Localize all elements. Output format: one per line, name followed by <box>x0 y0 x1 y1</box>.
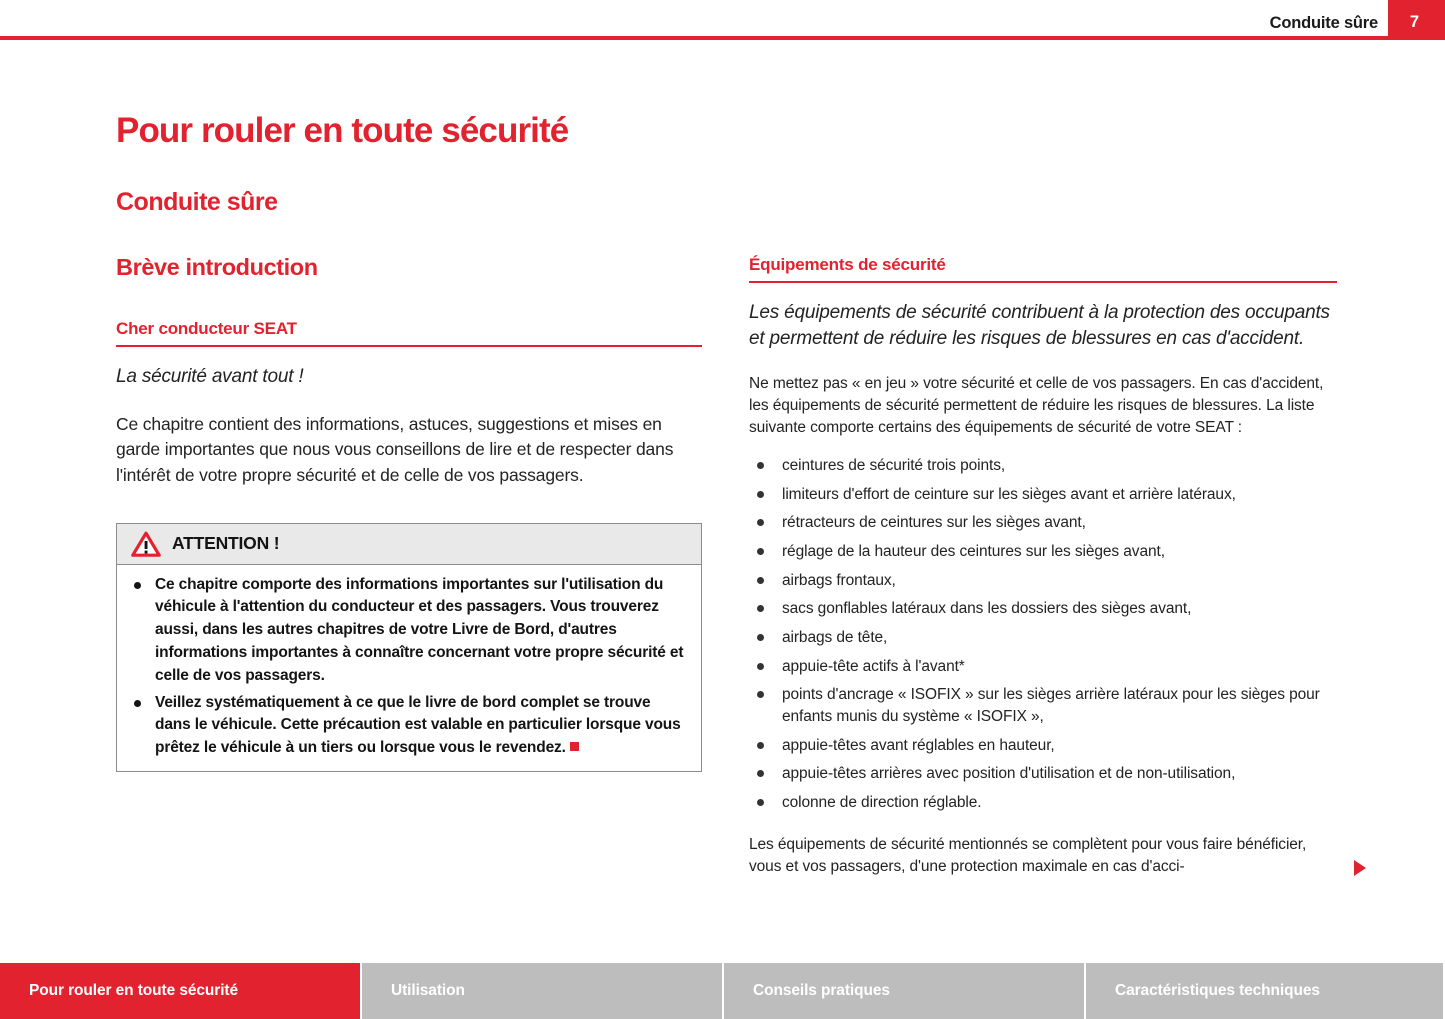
attention-item: Veillez systématiquement à ce que le liv… <box>128 692 690 760</box>
bullet-dot-icon <box>757 519 764 526</box>
left-body-paragraph: Ce chapitre contient des informations, a… <box>116 412 702 489</box>
section-heading-breve-introduction: Brève introduction <box>116 255 702 281</box>
list-item-text: colonne de direction réglable. <box>782 794 982 811</box>
footer-tab-pour-rouler[interactable]: Pour rouler en toute sécurité <box>0 963 362 1019</box>
footer-tab-utilisation[interactable]: Utilisation <box>362 963 724 1019</box>
footer-tabs: Pour rouler en toute sécurité Utilisatio… <box>0 963 1445 1019</box>
list-item: appuie-têtes arrières avec position d'ut… <box>749 763 1337 785</box>
bullet-dot-icon <box>757 663 764 670</box>
list-item-text: airbags de tête, <box>782 629 887 646</box>
bullet-dot-icon <box>757 605 764 612</box>
list-item: airbags de tête, <box>749 627 1337 649</box>
list-item-text: limiteurs d'effort de ceinture sur les s… <box>782 486 1236 503</box>
list-item-text: ceintures de sécurité trois points, <box>782 457 1005 474</box>
list-item: ceintures de sécurité trois points, <box>749 455 1337 477</box>
attention-box-body: Ce chapitre comporte des informations im… <box>117 565 701 771</box>
equipment-list: ceintures de sécurité trois points, limi… <box>749 455 1337 814</box>
bullet-dot-icon <box>757 634 764 641</box>
subsection-heading-equipements: Équipements de sécurité <box>749 255 1337 283</box>
left-lead-text: La sécurité avant tout ! <box>116 364 702 389</box>
left-column: Brève introduction Cher conducteur SEAT … <box>116 255 702 772</box>
list-item-text: points d'ancrage « ISOFIX » sur les sièg… <box>782 686 1320 725</box>
header-chapter-title: Conduite sûre <box>1270 14 1378 33</box>
bullet-dot-icon <box>757 799 764 806</box>
right-closing-paragraph: Les équipements de sécurité mentionnés s… <box>749 834 1337 878</box>
right-lead-text: Les équipements de sécurité contribuent … <box>749 300 1337 351</box>
list-item: points d'ancrage « ISOFIX » sur les sièg… <box>749 684 1337 727</box>
list-item-text: appuie-têtes arrières avec position d'ut… <box>782 765 1235 782</box>
bullet-dot-icon <box>757 691 764 698</box>
list-item-text: appuie-têtes avant réglables en hauteur, <box>782 737 1055 754</box>
page-header: Conduite sûre 7 <box>0 0 1445 40</box>
list-item: colonne de direction réglable. <box>749 792 1337 814</box>
right-closing-text: Les équipements de sécurité mentionnés s… <box>749 836 1306 875</box>
attention-box: ATTENTION ! Ce chapitre comporte des inf… <box>116 523 702 772</box>
list-item-text: rétracteurs de ceintures sur les sièges … <box>782 514 1086 531</box>
red-square-marker-icon <box>570 742 579 751</box>
page-subtitle: Conduite sûre <box>116 188 278 217</box>
page-number: 7 <box>1410 13 1419 32</box>
list-item: limiteurs d'effort de ceinture sur les s… <box>749 484 1337 506</box>
bullet-dot-icon <box>757 577 764 584</box>
bullet-dot-icon <box>757 770 764 777</box>
footer-tab-caracteristiques-techniques[interactable]: Caractéristiques techniques <box>1086 963 1443 1019</box>
footer-tab-conseils-pratiques[interactable]: Conseils pratiques <box>724 963 1086 1019</box>
bullet-dot-icon <box>757 548 764 555</box>
bullet-dot-icon <box>757 742 764 749</box>
attention-item-text: Veillez systématiquement à ce que le liv… <box>155 694 681 757</box>
list-item: rétracteurs de ceintures sur les sièges … <box>749 512 1337 534</box>
list-item-text: appuie-tête actifs à l'avant* <box>782 658 965 675</box>
right-body-paragraph: Ne mettez pas « en jeu » votre sécurité … <box>749 373 1337 439</box>
list-item: appuie-tête actifs à l'avant* <box>749 656 1337 678</box>
bullet-dot-icon <box>757 462 764 469</box>
bullet-dot-icon <box>134 582 141 589</box>
page-content: Pour rouler en toute sécurité Conduite s… <box>0 40 1445 950</box>
bullet-dot-icon <box>134 700 141 707</box>
subsection-heading-cher-conducteur: Cher conducteur SEAT <box>116 319 702 347</box>
continuation-arrow-icon <box>1354 860 1366 876</box>
page-title: Pour rouler en toute sécurité <box>116 111 568 151</box>
attention-box-header: ATTENTION ! <box>117 524 701 565</box>
list-item-text: réglage de la hauteur des ceintures sur … <box>782 543 1165 560</box>
list-item-text: sacs gonflables latéraux dans les dossie… <box>782 600 1191 617</box>
bullet-dot-icon <box>757 491 764 498</box>
list-item: sacs gonflables latéraux dans les dossie… <box>749 598 1337 620</box>
right-column: Équipements de sécurité Les équipements … <box>749 255 1337 878</box>
list-item: airbags frontaux, <box>749 570 1337 592</box>
list-item-text: airbags frontaux, <box>782 572 896 589</box>
attention-item: Ce chapitre comporte des informations im… <box>128 574 690 688</box>
attention-box-title: ATTENTION ! <box>172 533 279 554</box>
list-item: réglage de la hauteur des ceintures sur … <box>749 541 1337 563</box>
list-item: appuie-têtes avant réglables en hauteur, <box>749 735 1337 757</box>
warning-triangle-icon <box>131 531 161 557</box>
attention-item-text: Ce chapitre comporte des informations im… <box>155 576 683 684</box>
